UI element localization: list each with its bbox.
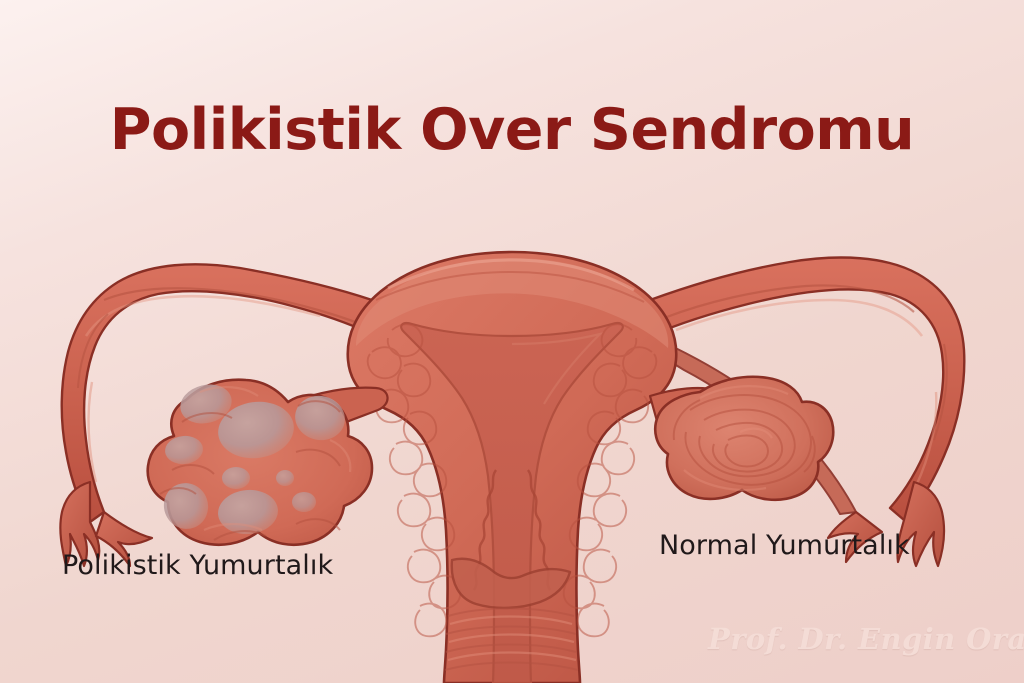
- watermark-credit: Prof. Dr. Engin Oral: [708, 622, 1024, 656]
- page-title: Polikistik Over Sendromu: [0, 101, 1024, 161]
- label-polycystic-ovary: Polikistik Yumurtalık: [62, 550, 333, 581]
- normal-ovary: [650, 377, 833, 500]
- uterus: [348, 252, 676, 683]
- cyst: [276, 470, 294, 486]
- cyst: [292, 492, 316, 512]
- label-normal-ovary: Normal Yumurtalık: [659, 530, 910, 561]
- polycystic-ovary: [148, 379, 388, 544]
- illustration-canvas: Polikistik Over Sendromu Polikistik Yumu…: [0, 0, 1024, 683]
- cyst: [222, 467, 250, 489]
